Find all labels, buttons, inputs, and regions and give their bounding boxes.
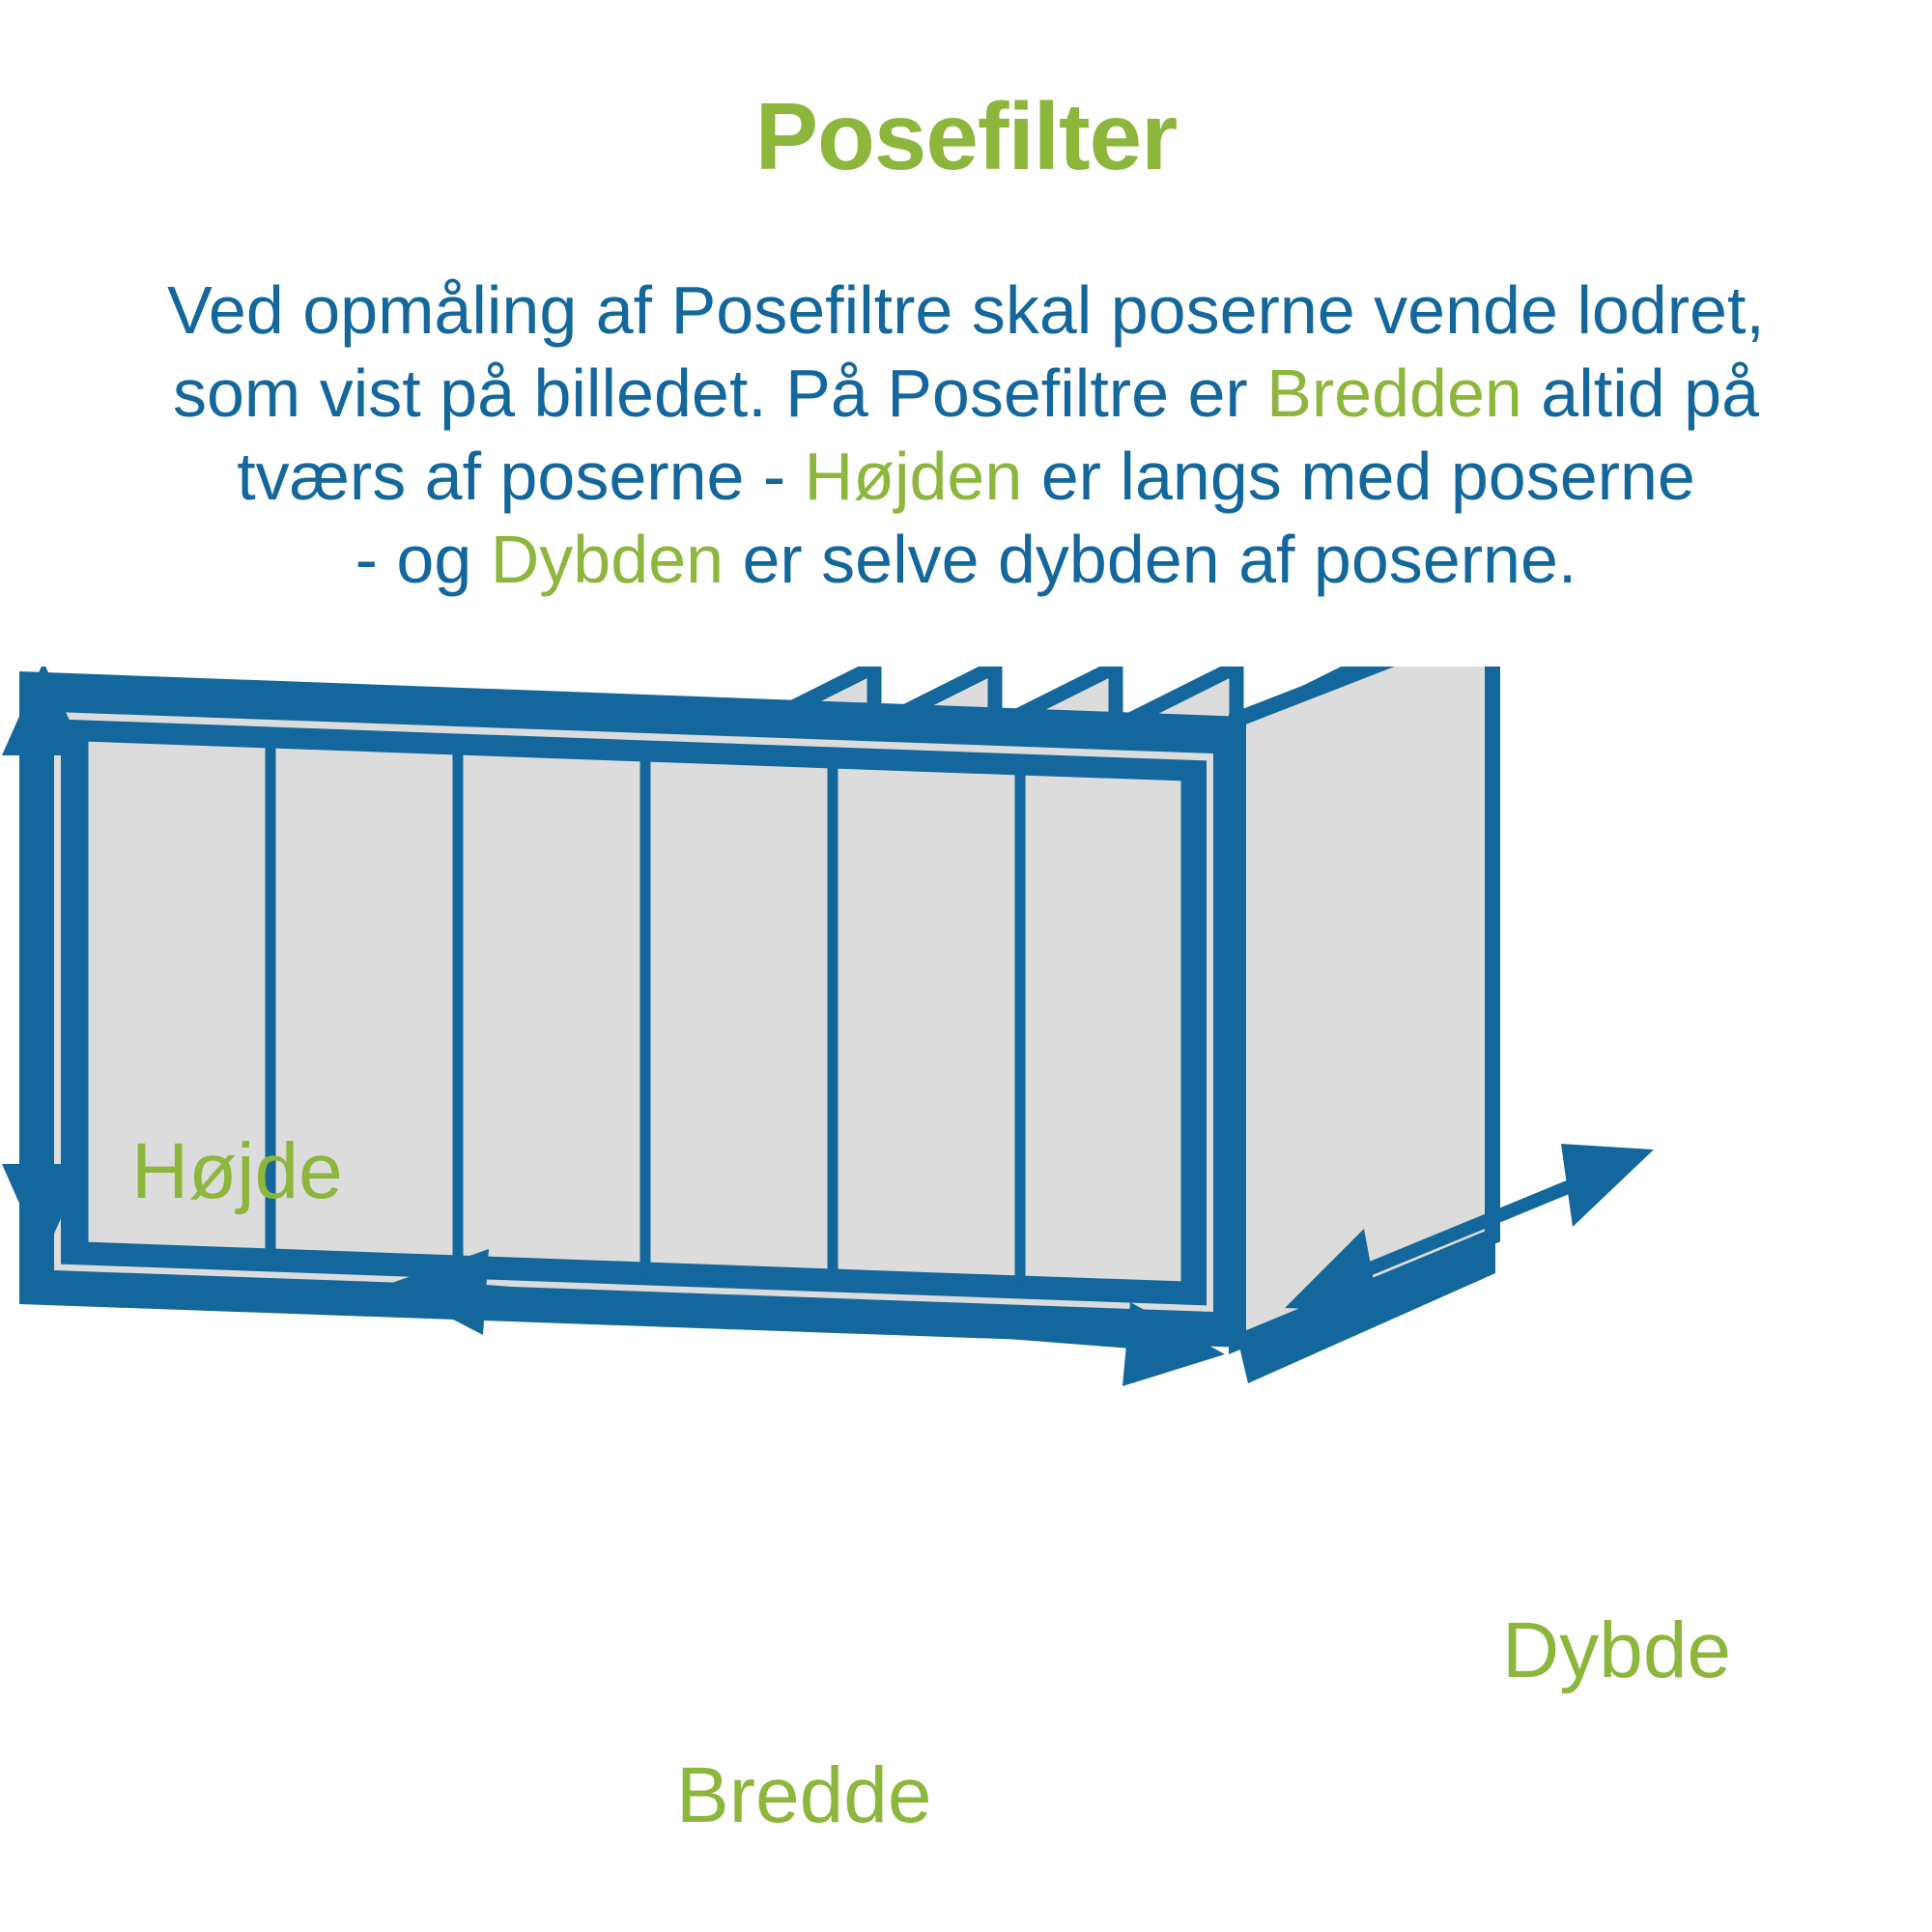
bag-panel-4	[645, 756, 833, 1274]
height-dimension-label: Højde	[131, 1132, 343, 1211]
intro-line-3-text-c: er langs med poserne	[1022, 439, 1695, 514]
intro-line-4-text-c: er selve dybden af poserne.	[724, 522, 1577, 597]
intro-line-2-text-a: som vist på billedet. På Posefiltre er	[173, 355, 1266, 431]
intro-line-4-text-a: - og	[355, 522, 491, 597]
intro-line-2-text-c: altid på	[1522, 355, 1759, 431]
bag-panel-5	[833, 763, 1020, 1281]
bag-panel-3	[458, 750, 645, 1267]
bag-filter-diagram	[0, 667, 1932, 1932]
highlight-dybden: Dybden	[491, 522, 724, 597]
highlight-bredden: Bredden	[1266, 355, 1522, 431]
depth-dimension-label: Dybde	[1502, 1611, 1731, 1690]
poster-canvas: Posefilter Ved opmåling af Posefiltre sk…	[0, 0, 1932, 1932]
width-dimension-label: Bredde	[676, 1756, 931, 1835]
intro-line-3-text-a: tværs af poserne -	[237, 439, 804, 514]
intro-line-1-text: Ved opmåling af Posefiltre skal poserne …	[167, 272, 1765, 348]
highlight-hojden: Højden	[805, 439, 1023, 514]
page-title: Posefilter	[0, 89, 1932, 184]
bag-panel-6	[1020, 770, 1186, 1287]
intro-paragraph: Ved opmåling af Posefiltre skal poserne …	[68, 269, 1864, 601]
